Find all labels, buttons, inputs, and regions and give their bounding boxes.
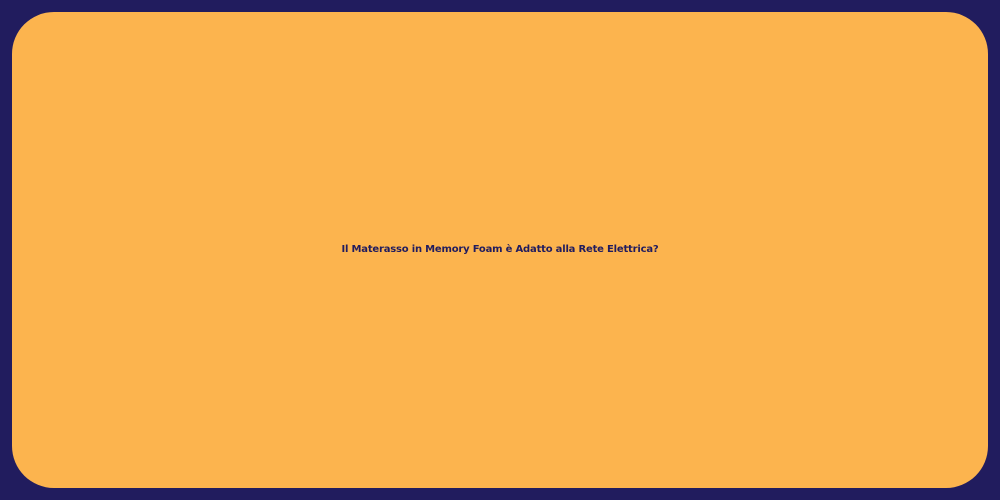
page-title: Il Materasso in Memory Foam è Adatto all…	[12, 244, 988, 257]
article-title-card: Il Materasso in Memory Foam è Adatto all…	[12, 12, 988, 488]
banner-canvas: Il Materasso in Memory Foam è Adatto all…	[0, 0, 1000, 500]
